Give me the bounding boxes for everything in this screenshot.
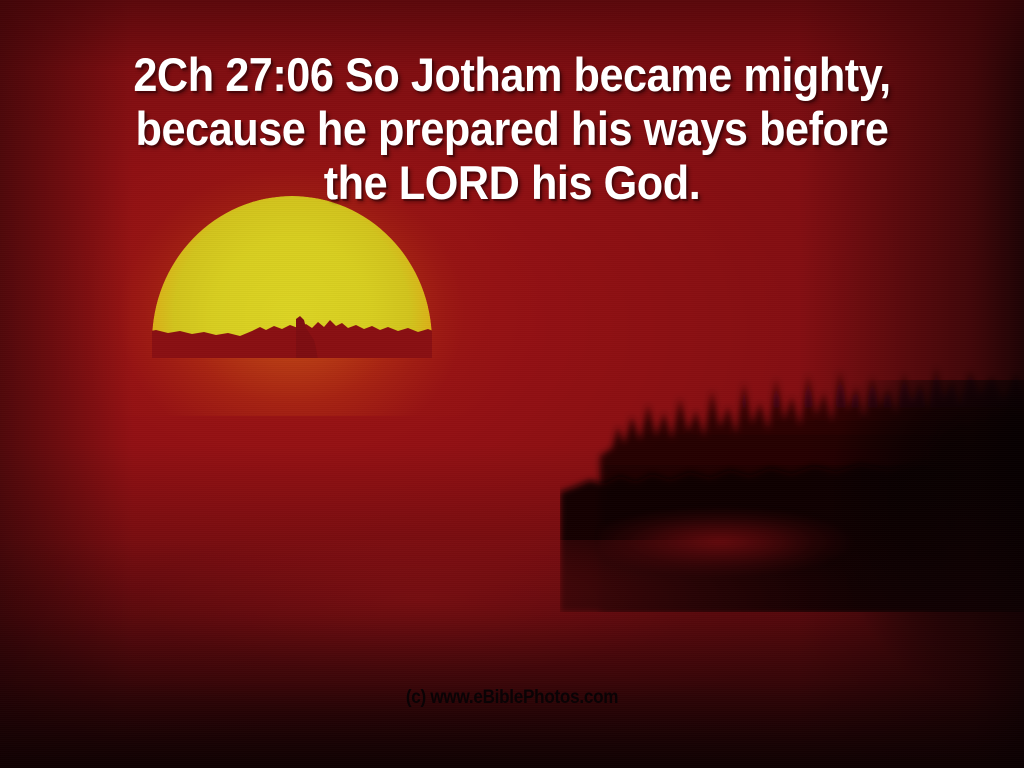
verse-line-2: because he prepared his ways before <box>41 102 983 156</box>
verse-image-canvas: 2Ch 27:06 So Jotham became mighty, becau… <box>0 0 1024 768</box>
copyright-watermark: (c) www.eBiblePhotos.com <box>51 688 973 708</box>
verse-line-3: the LORD his God. <box>41 156 983 210</box>
verse-text: 2Ch 27:06 So Jotham became mighty, becau… <box>41 48 983 210</box>
verse-line-1: 2Ch 27:06 So Jotham became mighty, <box>41 48 983 102</box>
